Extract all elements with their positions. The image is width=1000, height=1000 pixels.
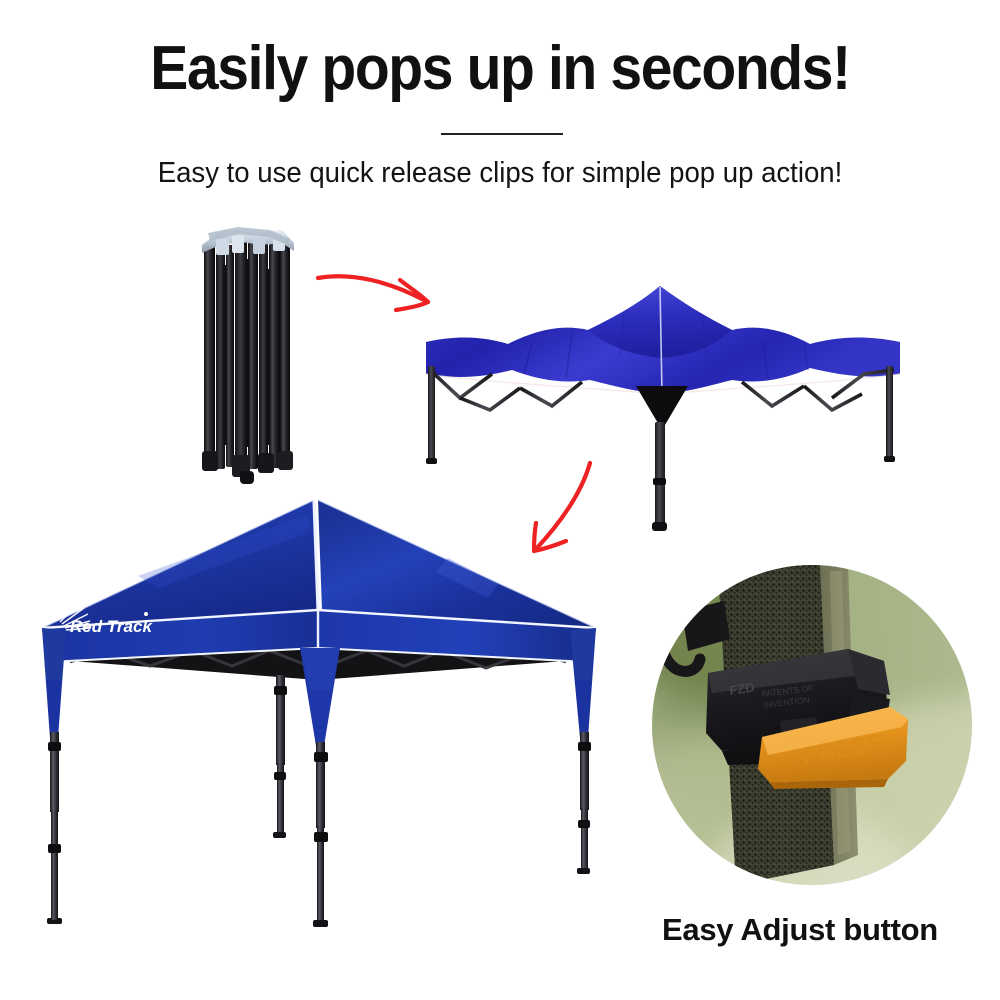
- leg-front-right: [313, 742, 328, 927]
- header-divider: [441, 133, 563, 135]
- half-open-canopy: [426, 286, 900, 394]
- clip-illustration: FZD PATENTS OF INVENTION PRESS: [652, 565, 972, 885]
- gazebo-roof: [42, 500, 596, 628]
- detail-inset-caption: Easy Adjust button: [600, 912, 1000, 948]
- folded-gazebo-frame: [190, 225, 310, 485]
- leg-rear-left: [273, 675, 287, 838]
- full-gazebo: Red Track: [18, 480, 618, 950]
- leg-rear-right: [577, 732, 591, 874]
- infographic-canvas: Easily pops up in seconds! Easy to use q…: [0, 0, 1000, 1000]
- leg-front-left: [47, 732, 62, 924]
- frame-poles: [204, 237, 290, 471]
- brand-name: Red Track: [70, 617, 153, 636]
- page-subtitle: Easy to use quick release clips for simp…: [25, 158, 975, 190]
- page-title: Easily pops up in seconds!: [40, 38, 960, 100]
- half-open-center-leg: [636, 386, 688, 531]
- easy-adjust-clip-photo: FZD PATENTS OF INVENTION PRESS: [652, 565, 972, 885]
- strap-and-dring: [663, 601, 730, 671]
